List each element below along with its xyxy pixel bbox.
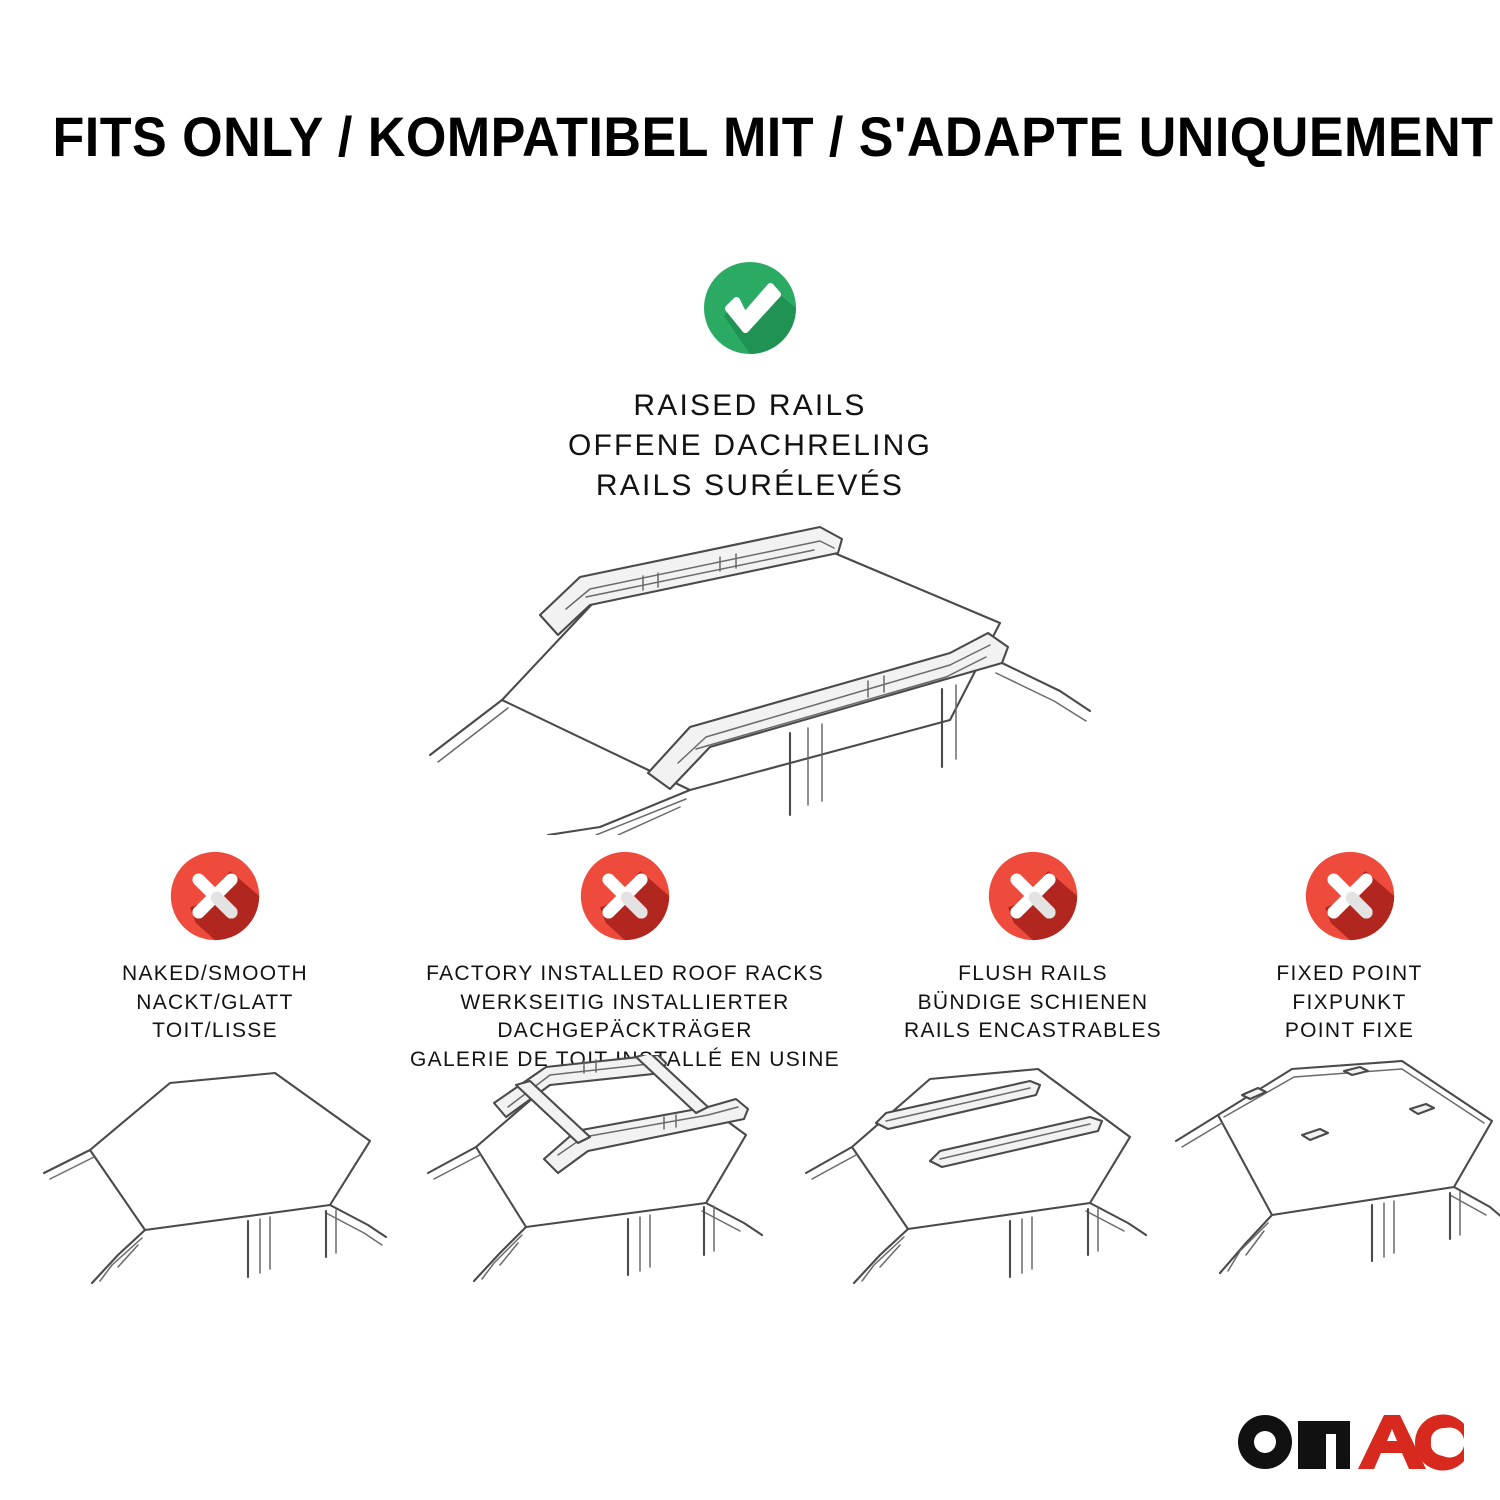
fitment-infographic: FITS ONLY / KOMPATIBEL MIT / S'ADAPTE UN… [0,0,1500,1500]
incompatible-label-en: FIXED POINT [1276,960,1422,989]
cross-circle-icon [167,848,263,944]
incompatible-labels: FIXED POINT FIXPUNKT POINT FIXE [1276,960,1422,1046]
incompatible-labels: FLUSH RAILS BÜNDIGE SCHIENEN RAILS ENCAS… [904,960,1162,1046]
car-roof-raised-rails-illustration [390,505,1110,835]
page-title: FITS ONLY / KOMPATIBEL MIT / S'ADAPTE UN… [53,104,1448,169]
compatible-section: RAISED RAILS OFFENE DACHRELING RAILS SUR… [0,258,1500,506]
omac-logo [1232,1404,1464,1474]
incompatible-item-fixed-point: FIXED POINT FIXPUNKT POINT FIXE [1212,848,1487,1046]
car-roof-fixed-point-illustration [1162,1055,1500,1305]
incompatible-label-en: FACTORY INSTALLED ROOF RACKS [410,960,840,989]
incompatible-label-en: FLUSH RAILS [904,960,1162,989]
cross-circle-icon [1302,848,1398,944]
incompatible-label-de: FIXPUNKT [1276,989,1422,1018]
incompatible-item-factory-roof-racks: FACTORY INSTALLED ROOF RACKS WERKSEITIG … [400,848,850,1074]
incompatible-item-naked-smooth: NAKED/SMOOTH NACKT/GLATT TOIT/LISSE [55,848,375,1046]
car-roof-naked-smooth-illustration [30,1055,395,1305]
car-roof-flush-rails-illustration [790,1055,1155,1305]
compatible-labels: RAISED RAILS OFFENE DACHRELING RAILS SUR… [568,386,932,506]
compatible-label-fr: RAILS SURÉLEVÉS [568,466,932,506]
cross-circle-icon [985,848,1081,944]
incompatible-label-de: NACKT/GLATT [122,989,308,1018]
incompatible-item-flush-rails: FLUSH RAILS BÜNDIGE SCHIENEN RAILS ENCAS… [868,848,1198,1046]
compatible-label-en: RAISED RAILS [568,386,932,426]
incompatible-label-de-2: DACHGEPÄCKTRÄGER [410,1017,840,1046]
check-circle-icon [700,258,800,358]
incompatible-labels: NAKED/SMOOTH NACKT/GLATT TOIT/LISSE [122,960,308,1046]
compatible-label-de: OFFENE DACHRELING [568,426,932,466]
incompatible-label-en: NAKED/SMOOTH [122,960,308,989]
incompatible-section: NAKED/SMOOTH NACKT/GLATT TOIT/LISSE [0,848,1500,1058]
incompatible-label-fr: TOIT/LISSE [122,1017,308,1046]
incompatible-label-fr: POINT FIXE [1276,1017,1422,1046]
incompatible-label-fr: RAILS ENCASTRABLES [904,1017,1162,1046]
incompatible-label-de: BÜNDIGE SCHIENEN [904,989,1162,1018]
car-roof-factory-roof-racks-illustration [408,1055,773,1305]
incompatible-label-de-1: WERKSEITIG INSTALLIERTER [410,989,840,1018]
cross-circle-icon [577,848,673,944]
